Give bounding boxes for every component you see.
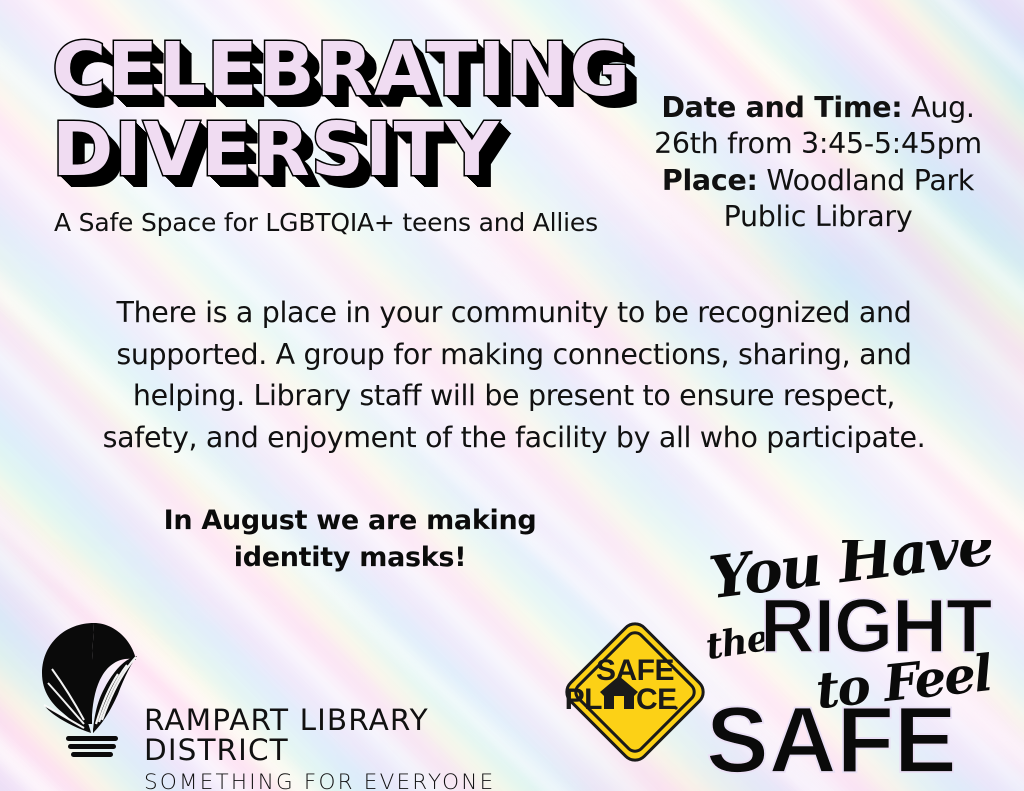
headline-line-2: DIVERSITY	[52, 116, 672, 184]
safe-place-logo: SAFE PL CE	[560, 616, 710, 768]
date-label: Date and Time:	[661, 91, 902, 124]
rtfs-safe-group: SAFE SAFE	[706, 687, 957, 780]
rampart-library-logo: RAMPART LIBRARY DISTRICT SOMETHING FOR E…	[32, 620, 532, 765]
poster-canvas: CELEBRATING DIVERSITY A Safe Space for L…	[0, 0, 1024, 791]
book-fan-lightbulb-icon	[32, 620, 152, 760]
rtfs-safe-inline: SAFE	[706, 687, 957, 780]
place-label: Place:	[662, 164, 758, 197]
right-to-feel-safe-lockup: .blk { fill:#0a0a0a; } .scr { font-famil…	[700, 540, 1016, 780]
rampart-name: RAMPART LIBRARY DISTRICT	[144, 706, 532, 765]
subtitle: A Safe Space for LGBTQIA+ teens and Alli…	[54, 208, 598, 237]
body-paragraph: There is a place in your community to be…	[84, 292, 944, 458]
event-details: Date and Time: Aug. 26th from 3:45-5:45p…	[638, 90, 998, 236]
poster-content: CELEBRATING DIVERSITY A Safe Space for L…	[0, 0, 1024, 791]
rampart-wordmark: RAMPART LIBRARY DISTRICT SOMETHING FOR E…	[144, 706, 532, 791]
safe-place-line-2-before: PL	[565, 683, 603, 716]
rampart-tagline: SOMETHING FOR EVERYONE	[144, 772, 532, 791]
safe-place-line-2-after: CE	[636, 683, 677, 716]
headline-line-1: CELEBRATING	[52, 36, 672, 104]
place-value: Woodland Park Public Library	[724, 164, 975, 233]
trademark-dot	[674, 706, 677, 709]
activity-note: In August we are making identity masks!	[150, 502, 550, 577]
page-title: CELEBRATING DIVERSITY	[52, 36, 672, 184]
